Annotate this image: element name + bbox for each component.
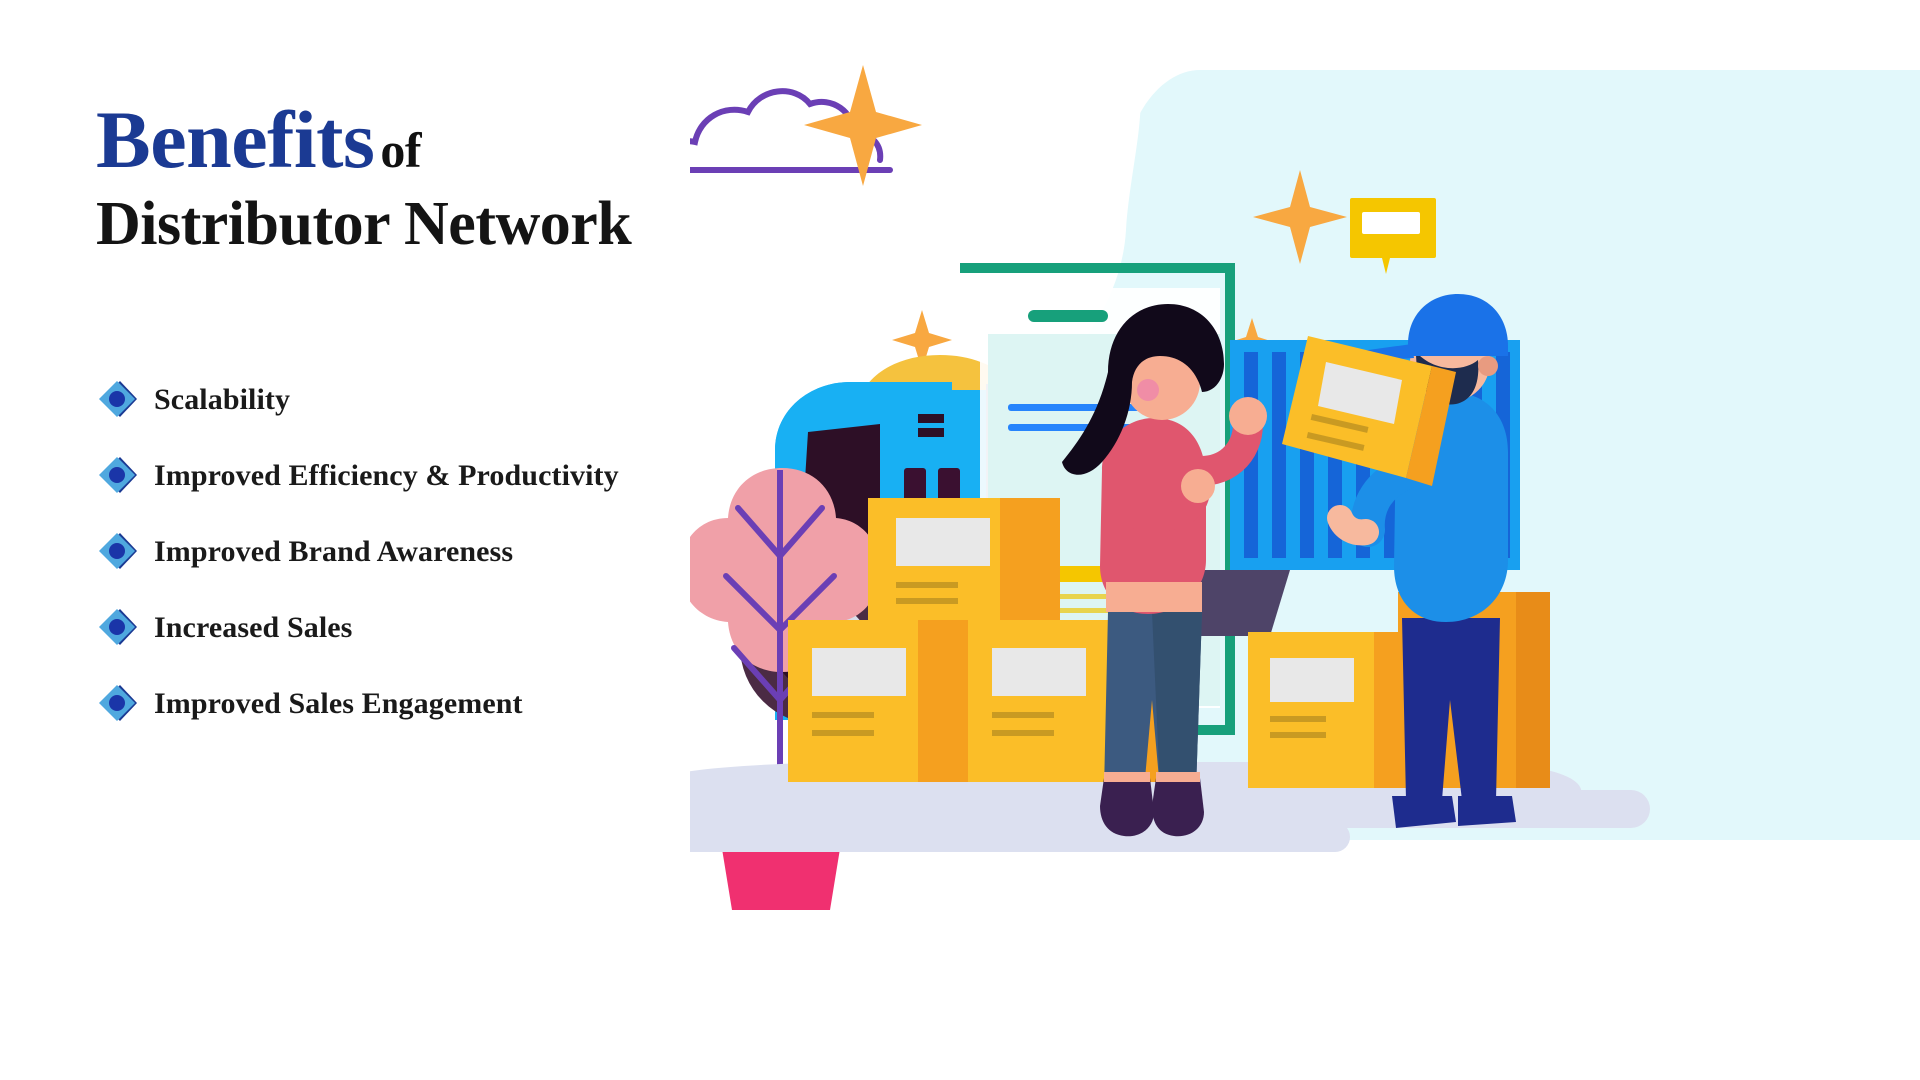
diamond-bullet-icon: [96, 454, 140, 498]
diamond-bullet-icon: [96, 606, 140, 650]
slide-canvas: Benefitsof Distributor Network Scalabili…: [0, 0, 1920, 1080]
logistics-delivery-illustration: [690, 0, 1920, 1000]
list-item[interactable]: Improved Efficiency & Productivity: [96, 453, 856, 499]
page-title-strong: Benefits: [96, 94, 374, 185]
list-item[interactable]: Improved Brand Awareness: [96, 529, 856, 575]
diamond-bullet-icon: [96, 682, 140, 726]
list-item-label: Increased Sales: [154, 611, 352, 645]
list-item-label: Improved Sales Engagement: [154, 687, 523, 721]
diamond-bullet-icon: [96, 378, 140, 422]
list-item[interactable]: Scalability: [96, 377, 856, 423]
page-title-line-1: Benefitsof: [96, 100, 856, 180]
list-item-label: Scalability: [154, 383, 290, 417]
page-title-line-2: Distributor Network: [96, 192, 856, 257]
benefits-list: Scalability Improved Efficiency & Produc…: [96, 377, 856, 727]
headline-and-bullets: Benefitsof Distributor Network Scalabili…: [96, 100, 856, 757]
list-item-label: Improved Brand Awareness: [154, 535, 513, 569]
page-title-of: of: [380, 122, 421, 178]
list-item[interactable]: Increased Sales: [96, 605, 856, 651]
diamond-bullet-icon: [96, 530, 140, 574]
list-item-label: Improved Efficiency & Productivity: [154, 459, 619, 493]
list-item[interactable]: Improved Sales Engagement: [96, 681, 856, 727]
